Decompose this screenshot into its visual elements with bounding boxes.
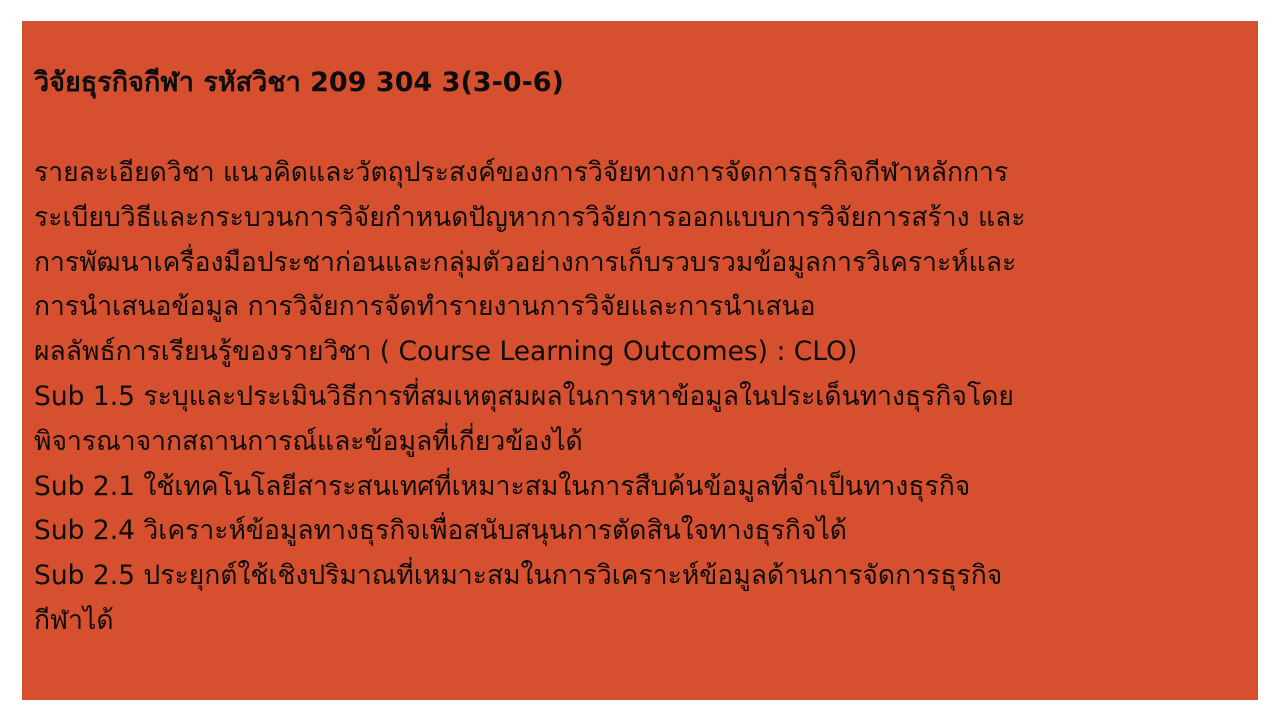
page-title: วิจัยธุรกิจกีฬา รหัสวิชา 209 304 3(3-0-6… — [34, 66, 1224, 100]
body-line: ระเบียบวิธีและกระบวนการวิจัยกำหนดปัญหากา… — [34, 196, 1244, 241]
body-line: กีฬาได้ — [34, 599, 1244, 644]
slide-frame: วิจัยธุรกิจกีฬา รหัสวิชา 209 304 3(3-0-6… — [0, 0, 1280, 720]
body-line: Sub 2.4 วิเคราะห์ข้อมูลทางธุรกิจเพื่อสนั… — [34, 509, 1244, 554]
body-line: ผลลัพธ์การเรียนรู้ของรายวิชา ( Course Le… — [34, 330, 1244, 375]
body-line: การนำเสนอข้อมูล การวิจัยการจัดทำรายงานกา… — [34, 285, 1244, 330]
body-line: รายละเอียดวิชา แนวคิดและวัตถุประสงค์ของก… — [34, 151, 1244, 196]
body-line: Sub 2.5 ประยุกต์ใช้เชิงปริมาณที่เหมาะสมใ… — [34, 554, 1244, 599]
slide-content-area: วิจัยธุรกิจกีฬา รหัสวิชา 209 304 3(3-0-6… — [22, 21, 1258, 700]
body-line: Sub 2.1 ใช้เทคโนโลยีสาระสนเทศที่เหมาะสมใ… — [34, 465, 1244, 510]
body-line: การพัฒนาเครื่องมือประชาก่อนและกลุ่มตัวอย… — [34, 241, 1244, 286]
body-line: Sub 1.5 ระบุและประเมินวิธีการที่สมเหตุสม… — [34, 375, 1244, 420]
body-line: พิจารณาจากสถานการณ์และข้อมูลที่เกี่ยวข้อ… — [34, 420, 1244, 465]
slide-body-text: รายละเอียดวิชา แนวคิดและวัตถุประสงค์ของก… — [34, 151, 1244, 644]
